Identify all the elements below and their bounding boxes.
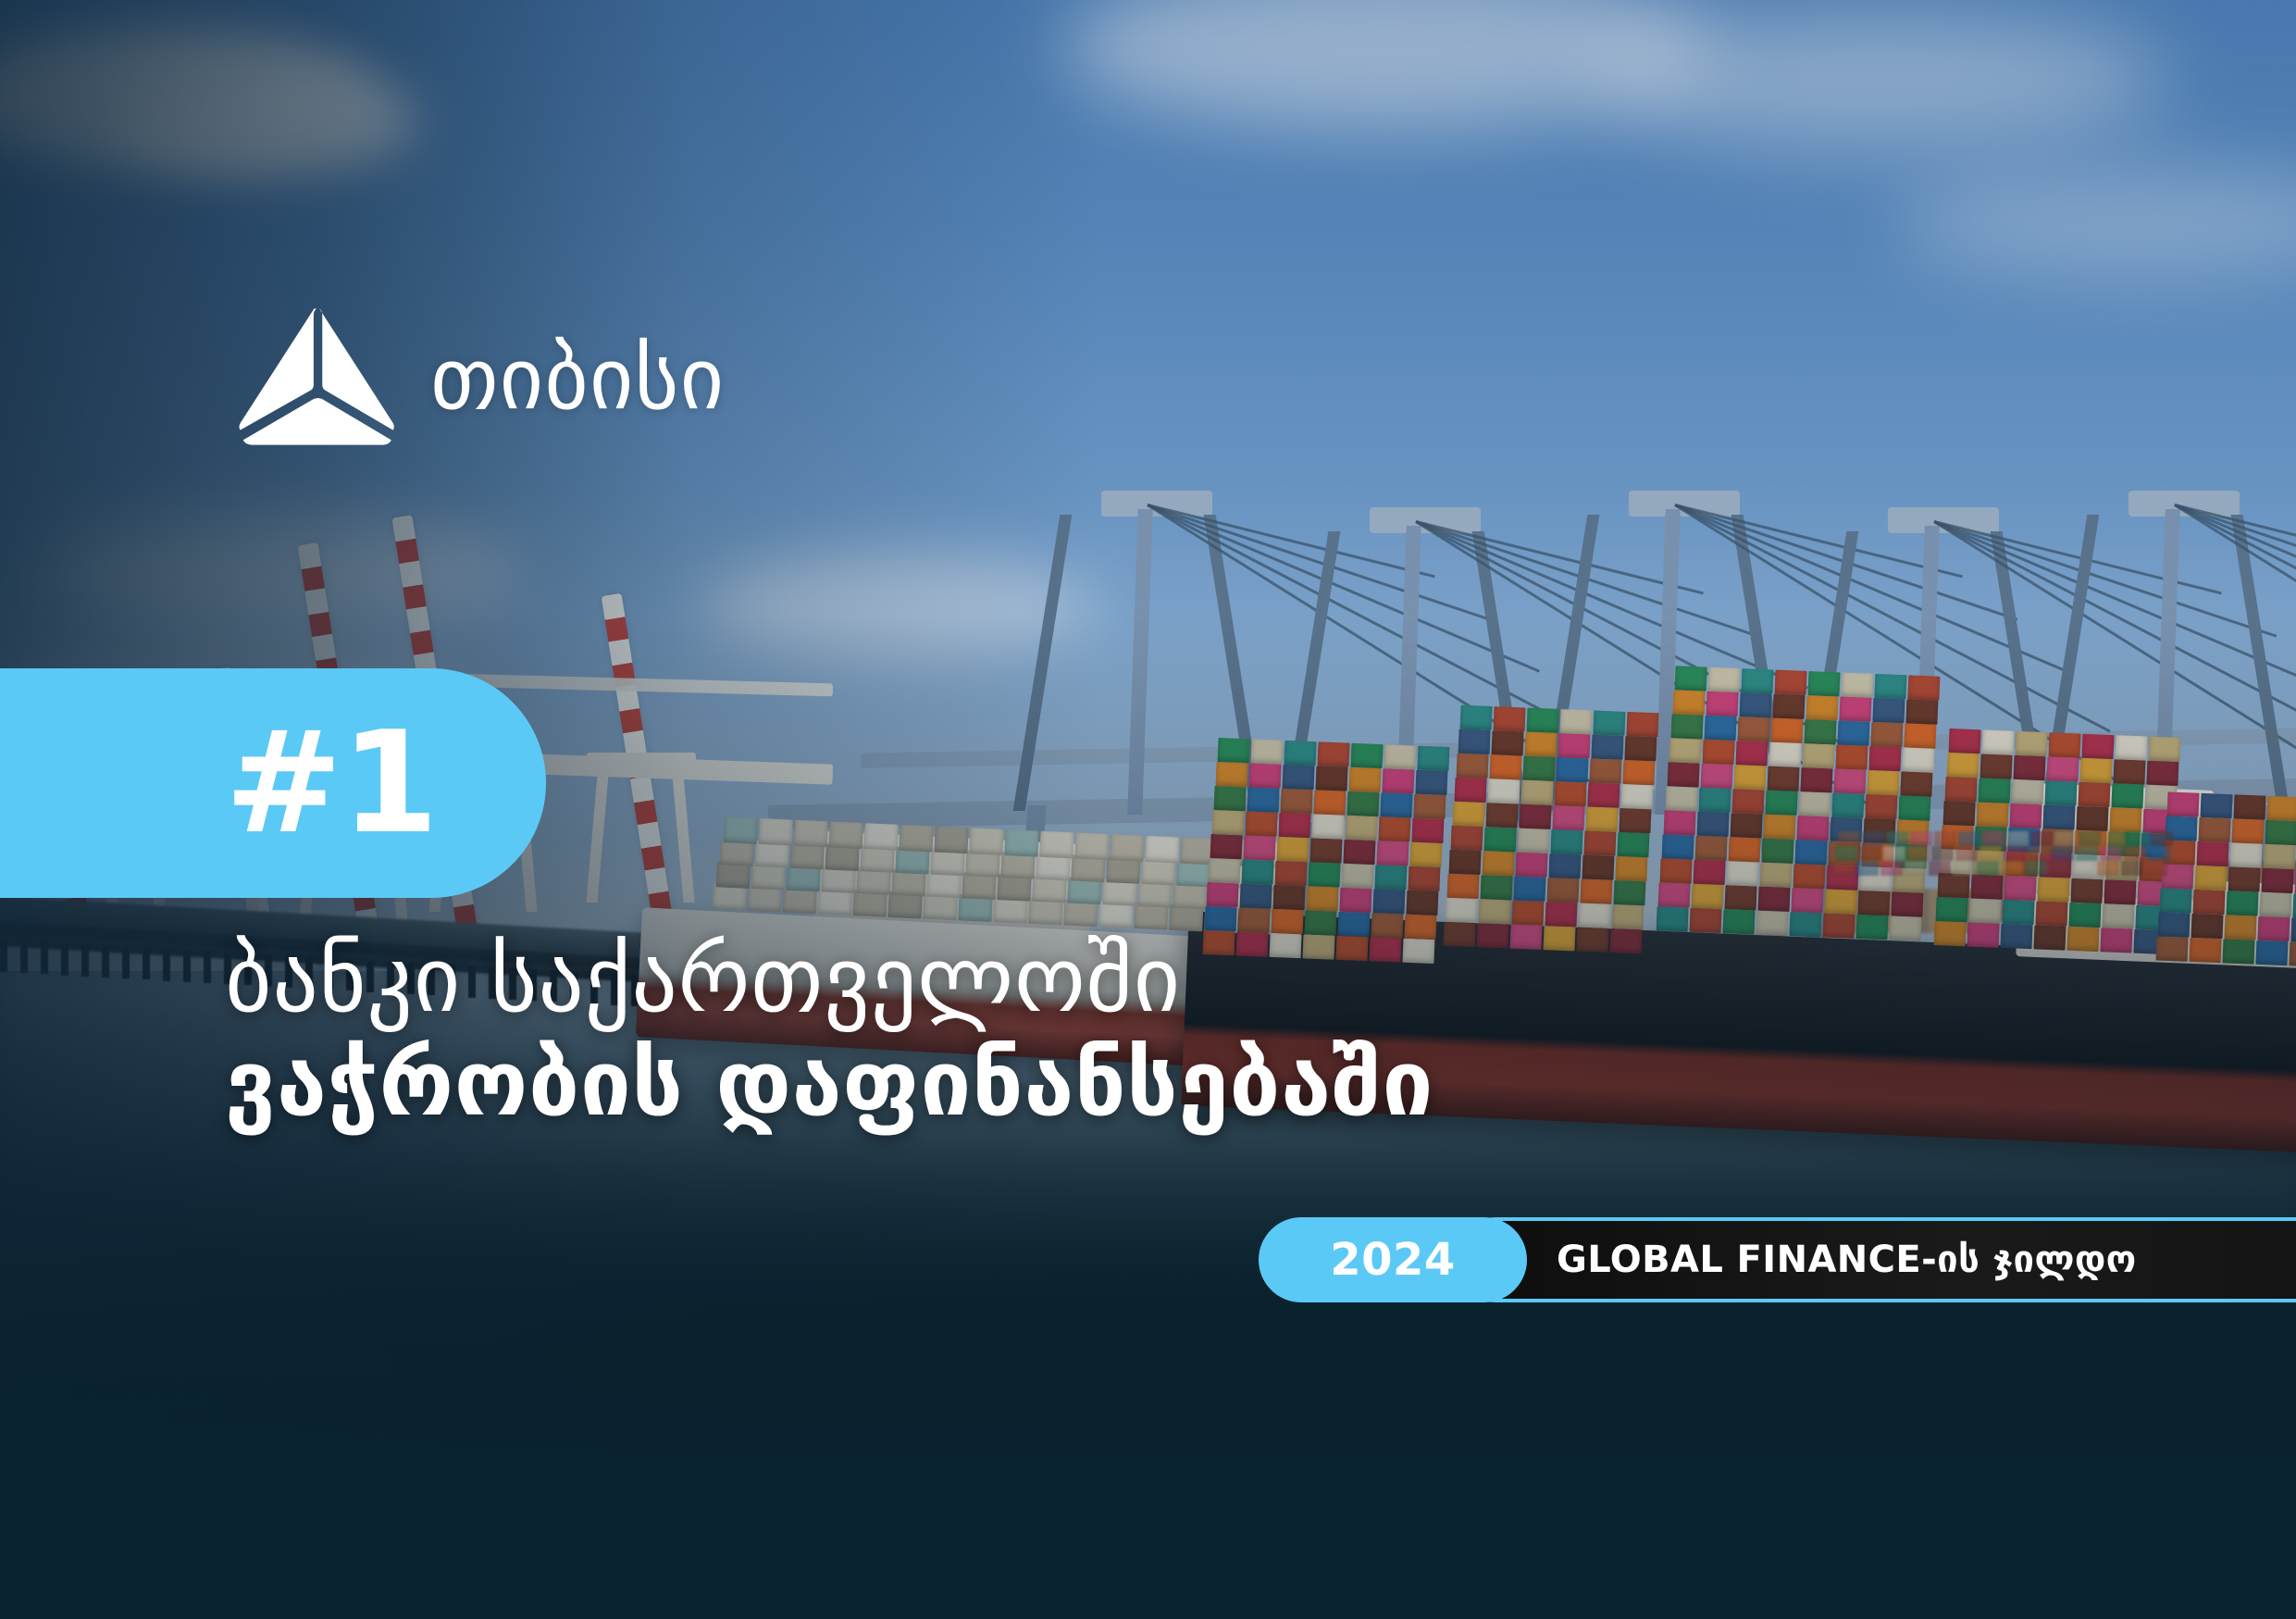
headline-line-1: ბანკი საქართველოში xyxy=(225,933,1798,1029)
content-layer: თიბისი #1 ბანკი საქართველოში ვაჭრობის და… xyxy=(0,0,2296,1619)
award-year-label: 2024 xyxy=(1330,1234,1456,1286)
tbc-triangle-logo-icon xyxy=(234,305,399,454)
award-bar-body: GLOBAL FINANCE-ის ჯილდო xyxy=(1453,1217,2296,1302)
award-year-badge: 2024 xyxy=(1259,1217,1527,1302)
award-bar-text: GLOBAL FINANCE-ის ჯილდო xyxy=(1557,1239,2137,1281)
headline-line-2: ვაჭრობის დაფინანსებაში xyxy=(225,1037,1798,1133)
brand-logo: თიბისი xyxy=(234,305,725,454)
award-bar: GLOBAL FINANCE-ის ჯილდო 2024 xyxy=(1259,1217,2296,1302)
rank-badge-label: #1 xyxy=(225,713,437,853)
promo-banner: თიბისი #1 ბანკი საქართველოში ვაჭრობის და… xyxy=(0,0,2296,1619)
headline: ბანკი საქართველოში ვაჭრობის დაფინანსებაშ… xyxy=(225,933,1798,1133)
brand-wordmark: თიბისი xyxy=(430,337,725,422)
rank-badge: #1 xyxy=(0,668,546,898)
